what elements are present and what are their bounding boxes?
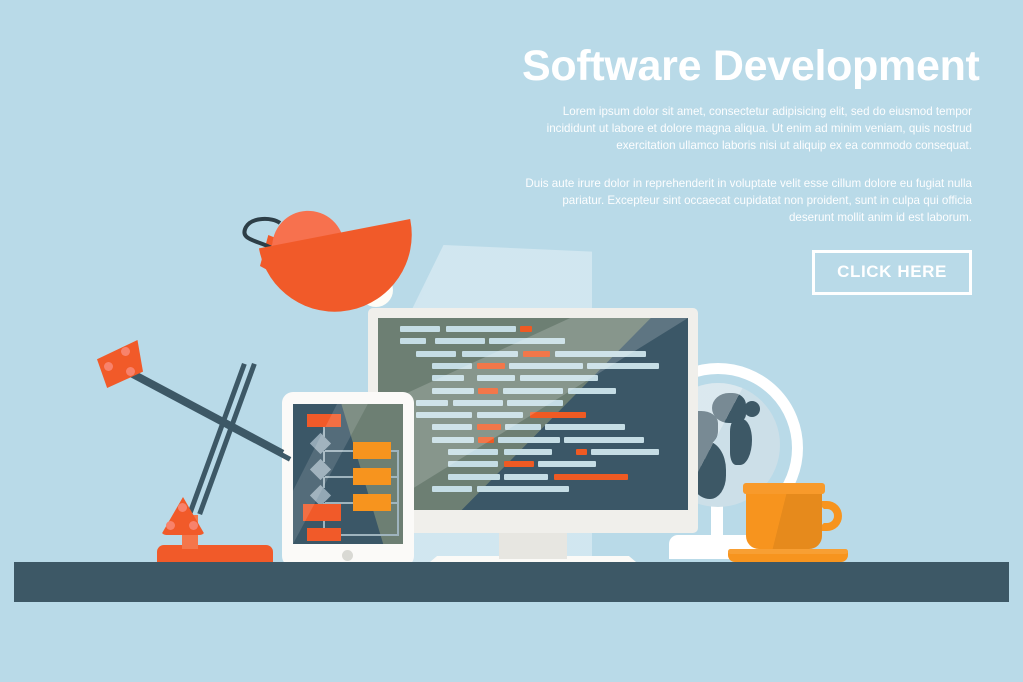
monitor-stand	[499, 533, 567, 559]
code-line-segment	[477, 412, 523, 418]
cup-rim	[743, 483, 825, 494]
code-line-segment	[432, 375, 464, 381]
code-line-segment	[503, 388, 563, 394]
code-line-segment	[520, 326, 532, 332]
globe-neck	[711, 503, 723, 537]
code-line-segment	[509, 363, 583, 369]
lamp-rivet	[189, 521, 198, 530]
desktop-monitor	[368, 308, 698, 566]
code-line-segment	[489, 338, 565, 344]
click-here-button[interactable]: CLICK HERE	[812, 250, 972, 295]
lamp-arm-lower-a	[187, 363, 246, 515]
lamp-rivet	[126, 367, 135, 376]
code-line-segment	[504, 449, 552, 455]
hero-text-block: Software Development Lorem ipsum dolor s…	[522, 44, 972, 295]
code-line-segment	[477, 486, 569, 492]
code-line-segment	[504, 474, 548, 480]
desk-surface	[14, 562, 1009, 602]
code-line-segment	[432, 424, 472, 430]
lamp-rivet	[121, 347, 130, 356]
monitor-bezel	[368, 308, 698, 533]
code-line-segment	[432, 388, 474, 394]
code-line-segment	[555, 351, 646, 357]
code-line-segment	[545, 424, 625, 430]
cup-saucer-top	[728, 549, 848, 554]
cup-shading	[746, 487, 822, 549]
code-line-segment	[453, 400, 503, 406]
code-line-segment	[432, 363, 472, 369]
code-line-segment	[416, 351, 456, 357]
code-line-segment	[446, 326, 516, 332]
code-line-segment	[523, 351, 550, 357]
page-title: Software Development	[522, 44, 972, 89]
code-line-segment	[538, 461, 596, 467]
code-line-segment	[587, 363, 659, 369]
code-line-segment	[554, 474, 628, 480]
lamp-rivet	[178, 503, 187, 512]
lamp-joint-middle	[97, 340, 143, 388]
code-line-segment	[568, 388, 616, 394]
code-line-segment	[576, 449, 587, 455]
lamp-rivet	[166, 521, 175, 530]
code-line-segment	[564, 437, 644, 443]
code-line-segment	[416, 412, 472, 418]
code-line-segment	[477, 424, 501, 430]
coffee-cup	[728, 483, 848, 565]
code-line-segment	[498, 437, 560, 443]
code-line-segment	[416, 400, 448, 406]
illustration-canvas: Software Development Lorem ipsum dolor s…	[0, 0, 1023, 682]
hero-paragraph-2: Duis aute irure dolor in reprehenderit i…	[522, 175, 972, 226]
code-line-segment	[504, 461, 534, 467]
monitor-screen[interactable]	[378, 318, 688, 510]
code-line-segment	[505, 424, 541, 430]
lamp-rivet	[104, 362, 113, 371]
lamp-joint-base	[161, 497, 205, 535]
code-line-segment	[520, 375, 598, 381]
code-line-segment	[477, 363, 505, 369]
code-line-segment	[448, 461, 498, 467]
code-line-segment	[448, 474, 500, 480]
code-line-segment	[448, 449, 498, 455]
desk-lamp[interactable]	[95, 215, 415, 570]
code-line-segment	[591, 449, 659, 455]
code-line-segment	[478, 437, 494, 443]
hero-paragraph-1: Lorem ipsum dolor sit amet, consectetur …	[522, 103, 972, 154]
code-line-segment	[478, 388, 498, 394]
code-line-segment	[462, 351, 518, 357]
code-line-segment	[477, 375, 515, 381]
code-line-segment	[432, 437, 474, 443]
code-line-segment	[435, 338, 485, 344]
code-line-segment	[432, 486, 472, 492]
code-line-segment	[507, 400, 563, 406]
code-line-segment	[530, 412, 586, 418]
